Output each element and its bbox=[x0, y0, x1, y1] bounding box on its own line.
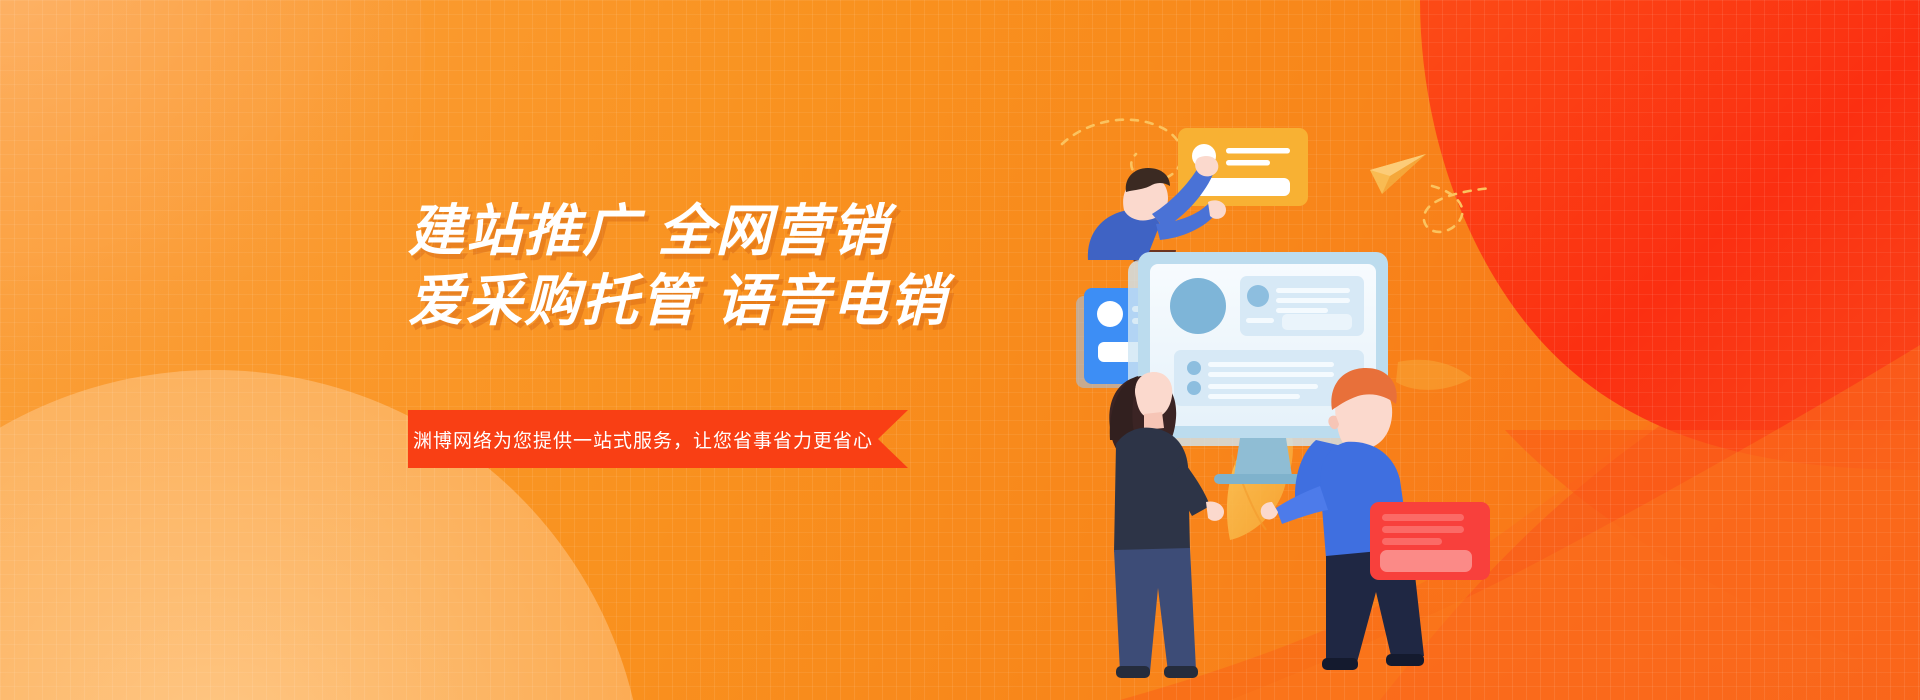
hero-illustration bbox=[1080, 110, 1540, 610]
ribbon-text: 渊博网络为您提供一站式服务，让您省事省力更省心 bbox=[408, 410, 878, 468]
background-decoration bbox=[0, 0, 1920, 700]
headline-line-2: 爱采购托管 语音电销 bbox=[408, 266, 1108, 336]
headline-block: 建站推广 全网营销 爱采购托管 语音电销 bbox=[408, 196, 1108, 336]
promo-banner: 建站推广 全网营销 爱采购托管 语音电销 渊博网络为您提供一站式服务，让您省事省… bbox=[0, 0, 1920, 700]
screen-avatar bbox=[1170, 278, 1226, 334]
bg-sweep-red bbox=[1505, 430, 1920, 690]
screen-panel-top bbox=[1240, 276, 1364, 336]
bg-circle-top-left bbox=[0, 0, 425, 380]
reaching-person-blue bbox=[1088, 156, 1226, 262]
subtitle-ribbon: 渊博网络为您提供一站式服务，让您省事省力更省心 bbox=[408, 410, 908, 468]
grid-texture-overlay bbox=[0, 0, 1920, 700]
red-form-card bbox=[1370, 502, 1490, 580]
headline-line-1: 建站推广 全网营销 bbox=[408, 196, 1108, 266]
paper-plane-icon bbox=[1370, 154, 1426, 194]
